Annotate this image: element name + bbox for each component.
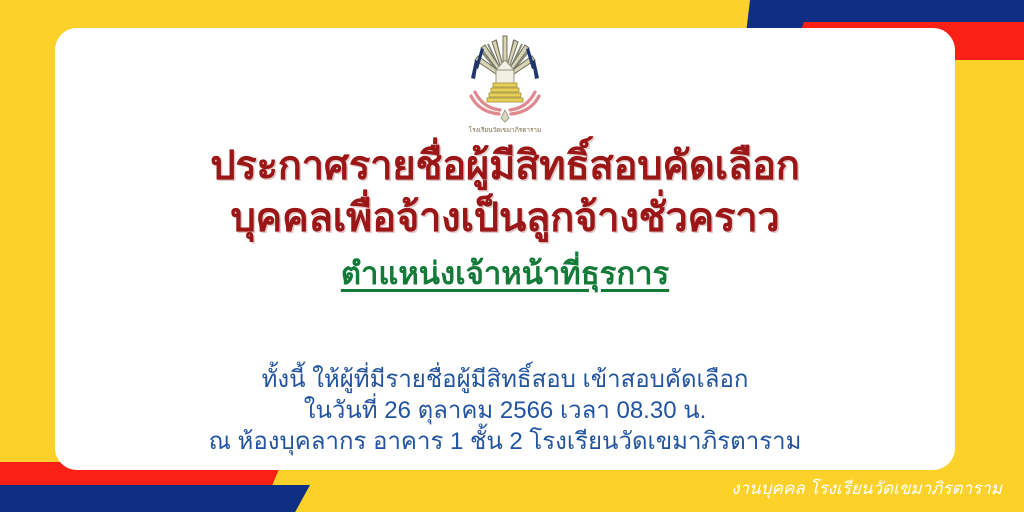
svg-text:โรงเรียนวัดเขมาภิรตาราม: โรงเรียนวัดเขมาภิรตาราม — [469, 126, 541, 134]
position-subtitle: ตำแหน่งเจ้าหน้าที่ธุรการ — [55, 254, 955, 294]
title-line-1: ประกาศรายชื่อผู้มีสิทธิ์สอบคัดเลือก — [55, 140, 955, 192]
content-card: โรงเรียนวัดเขมาภิรตาราม ประกาศรายชื่อผู้… — [55, 28, 955, 470]
announcement-poster: โรงเรียนวัดเขมาภิรตาราม ประกาศรายชื่อผู้… — [0, 0, 1024, 512]
bottom-left-blue-ribbon — [0, 485, 310, 512]
school-emblem-icon: โรงเรียนวัดเขมาภิรตาราม — [457, 30, 553, 134]
title-line-2: บุคคลเพื่อจ้างเป็นลูกจ้างชั่วคราว — [55, 192, 955, 244]
body-line-3: ณ ห้องบุคลากร อาคาร 1 ชั้น 2 โรงเรียนวัด… — [55, 426, 955, 457]
body-line-1: ทั้งนี้ ให้ผู้ที่มีรายชื่อผู้มีสิทธิ์สอบ… — [55, 364, 955, 395]
body-block: ทั้งนี้ ให้ผู้ที่มีรายชื่อผู้มีสิทธิ์สอบ… — [55, 364, 955, 457]
body-line-2: ในวันที่ 26 ตุลาคม 2566 เวลา 08.30 น. — [55, 395, 955, 426]
title-block: ประกาศรายชื่อผู้มีสิทธิ์สอบคัดเลือก บุคค… — [55, 140, 955, 294]
footer-credit: งานบุคคล โรงเรียนวัดเขมาภิรตาราม — [731, 475, 1002, 502]
emblem-container: โรงเรียนวัดเขมาภิรตาราม — [55, 30, 955, 134]
